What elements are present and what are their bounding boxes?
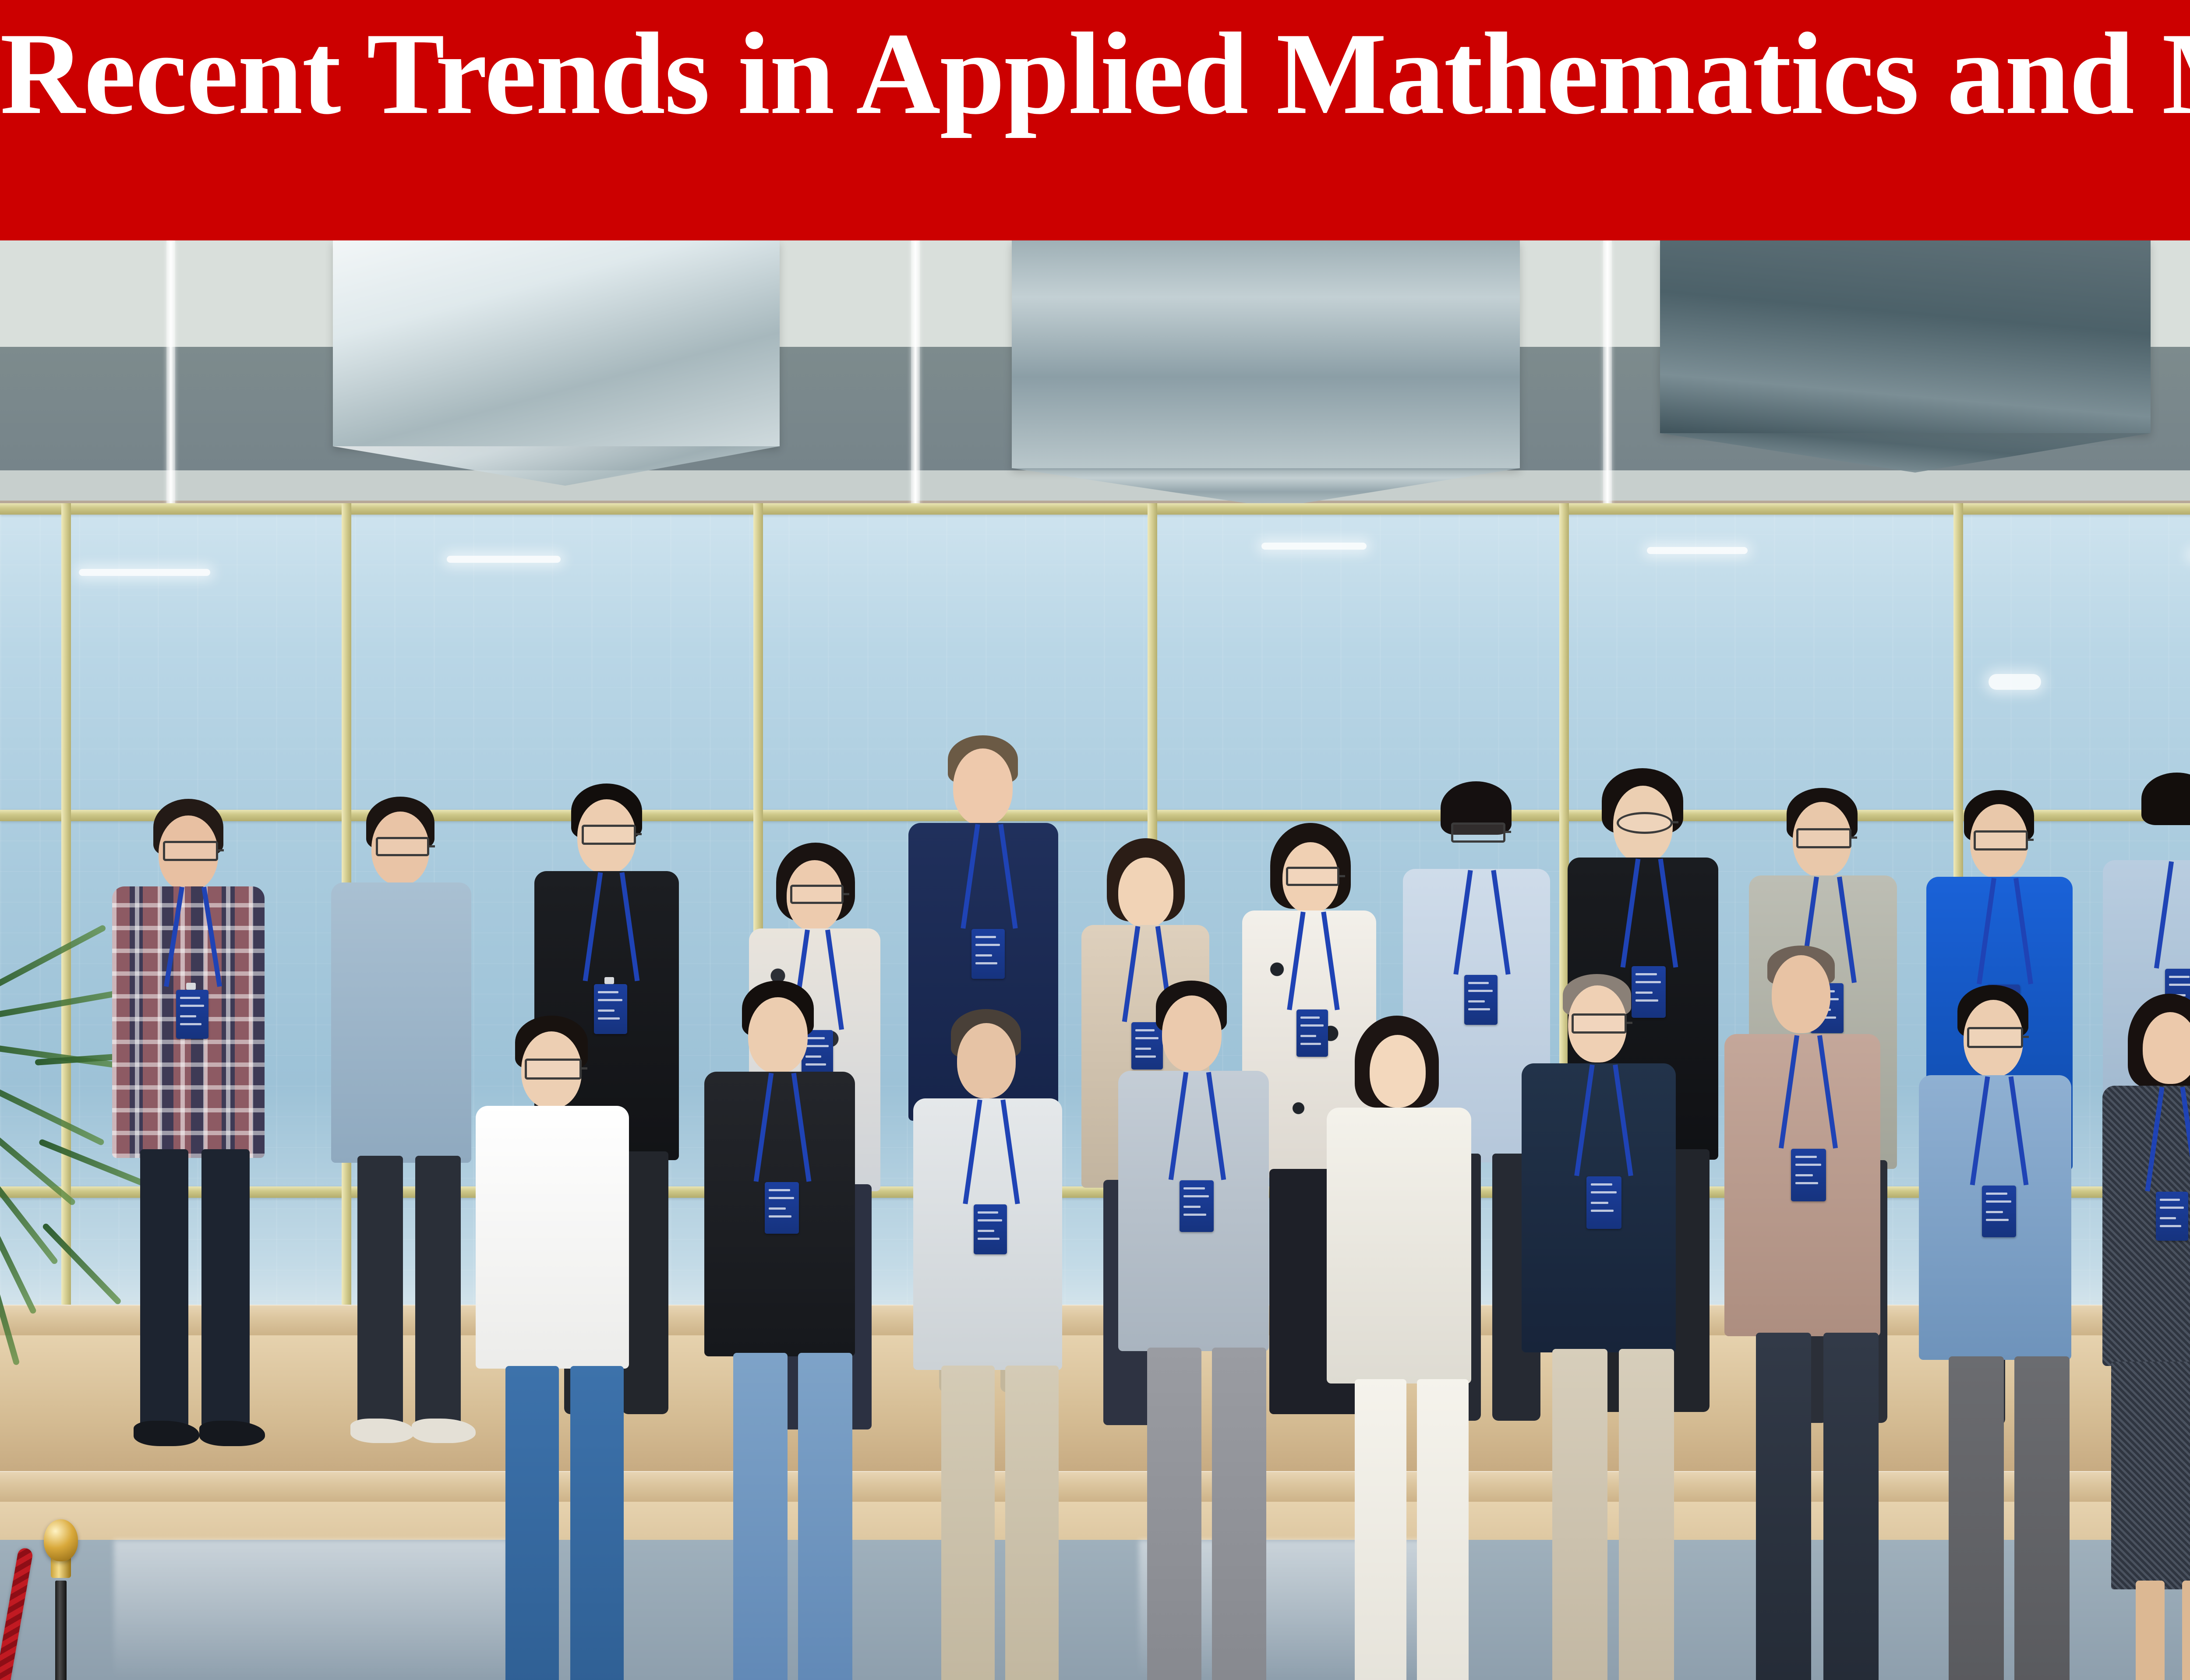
stanchion-post — [55, 1581, 67, 1680]
name-badge — [1296, 1009, 1328, 1057]
ceiling-light — [79, 569, 210, 576]
glasses-icon — [525, 1059, 582, 1080]
wall-mullion — [911, 240, 920, 529]
legs — [1823, 1333, 1879, 1680]
name-badge — [1586, 1176, 1621, 1229]
name-badge — [971, 929, 1005, 979]
banner-suit — [1012, 240, 1520, 468]
glasses-icon — [1451, 822, 1505, 843]
face — [957, 1023, 1016, 1098]
wall-mullion — [1603, 240, 1612, 529]
badge-clip — [186, 983, 196, 990]
glasses-icon — [376, 837, 429, 856]
glasses-icon — [1796, 828, 1851, 848]
glasses-icon — [1572, 1013, 1627, 1034]
glasses-icon — [1967, 1027, 2023, 1048]
title-banner: Recent Trends in Applied Mathematics and… — [0, 0, 2190, 240]
face — [748, 997, 808, 1073]
ceiling-light — [1989, 674, 2041, 690]
legs — [2111, 1362, 2190, 1589]
ceiling-light — [1647, 547, 1748, 554]
face — [1772, 955, 1830, 1033]
group-photograph — [0, 240, 2190, 1680]
wall-mullion — [166, 240, 175, 529]
legs — [415, 1156, 461, 1427]
legs — [2014, 1356, 2070, 1680]
name-badge — [2156, 1192, 2188, 1241]
name-badge — [1982, 1186, 2016, 1237]
legs — [570, 1366, 624, 1680]
name-badge — [1180, 1180, 1214, 1232]
window-frame-horizontal — [0, 503, 2190, 515]
name-badge — [974, 1204, 1007, 1254]
badge-clip — [604, 977, 614, 984]
face — [1370, 1035, 1426, 1108]
face — [1162, 995, 1222, 1072]
legs — [505, 1366, 559, 1680]
legs — [2182, 1581, 2190, 1680]
stanchion-finial — [44, 1519, 78, 1561]
name-badge — [765, 1182, 799, 1234]
legs — [357, 1156, 403, 1427]
glasses-icon — [790, 885, 844, 904]
torso — [1327, 1108, 1471, 1384]
torso — [476, 1106, 629, 1369]
glasses-icon — [582, 825, 636, 845]
banner-bust — [333, 240, 780, 446]
legs — [733, 1353, 788, 1680]
legs — [1949, 1356, 2004, 1680]
legs — [1756, 1333, 1811, 1680]
glasses-icon — [1974, 830, 2028, 851]
legs — [1355, 1379, 1406, 1680]
legs — [201, 1149, 250, 1429]
legs — [2136, 1581, 2165, 1680]
window-frame-horizontal — [0, 810, 2190, 821]
legs — [941, 1366, 995, 1680]
legs — [1619, 1349, 1674, 1680]
name-badge — [1632, 966, 1666, 1018]
floor-light-reflection — [114, 1540, 508, 1680]
conference-group-photo-poster: Recent Trends in Applied Mathematics and… — [0, 0, 2190, 1680]
glasses-icon — [163, 841, 218, 861]
legs — [798, 1353, 852, 1680]
name-badge — [1464, 975, 1498, 1025]
legs — [1212, 1348, 1266, 1680]
legs — [140, 1149, 188, 1429]
legs — [1552, 1349, 1607, 1680]
legs — [1417, 1379, 1469, 1680]
torso — [331, 882, 471, 1163]
legs — [1005, 1366, 1059, 1680]
name-badge — [594, 984, 627, 1034]
legs — [1147, 1348, 1201, 1680]
name-badge — [1791, 1149, 1826, 1201]
glasses-icon — [1617, 812, 1673, 834]
page-title: Recent Trends in Applied Mathematics and… — [0, 8, 2190, 139]
face — [1118, 858, 1173, 928]
banner-dark-coat — [1660, 240, 2151, 433]
name-badge — [176, 990, 208, 1039]
face — [953, 748, 1013, 826]
window-frame-vertical — [61, 503, 71, 1335]
ceiling-light — [1261, 543, 1367, 550]
name-badge — [1131, 1022, 1163, 1069]
ceiling-light — [447, 556, 561, 563]
glasses-icon — [1286, 867, 1339, 886]
